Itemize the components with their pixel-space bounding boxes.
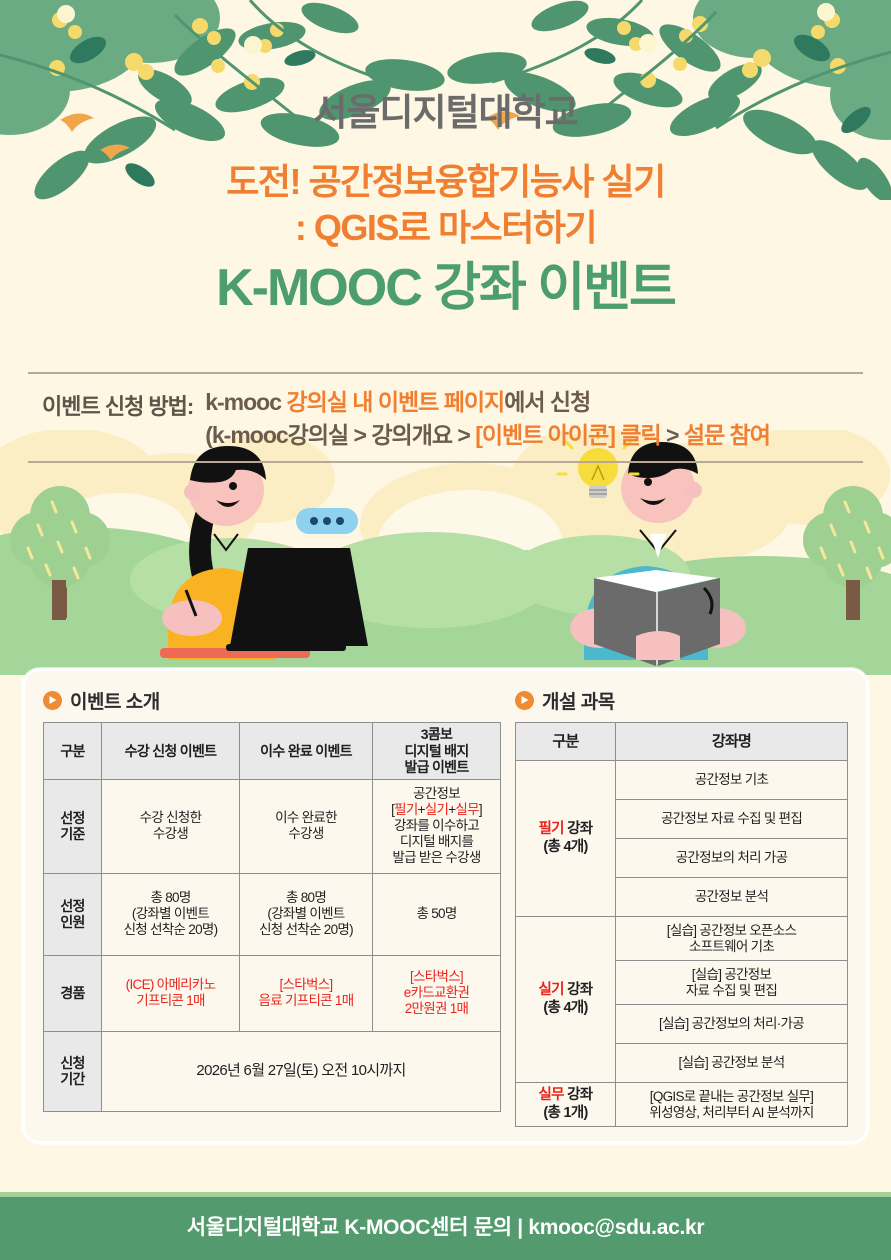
apply-method-band: 이벤트 신청 방법: k-mooc 강의실 내 이벤트 페이지에서 신청 (k-… [28,372,863,463]
cell-count-badge: 총 50명 [373,873,501,955]
event-subtitle-line1: 도전! 공간정보융합기능사 실기 [0,159,891,205]
footer-contact-text: 서울디지털대학교 K-MOOC센터 문의 | kmooc@sdu.ac.kr [187,1211,705,1241]
badge-header-line1: 3콤보 [375,726,498,743]
col-header-course-name: 강좌명 [616,723,848,761]
cell-period-value: 2026년 6월 27일(토) 오전 10시까지 [102,1031,501,1111]
course-cell: 공간정보 기초 [616,761,848,800]
table-row-count: 선정 인원 총 80명 (강좌별 이벤트 신청 선착순 20명) 총 80명 (… [44,873,501,955]
badge-header-line3: 발급 이벤트 [375,759,498,776]
group-label-field: 실무 강좌 (총 1개) [516,1083,616,1127]
course-cell: 공간정보의 처리 가공 [616,839,848,878]
table-header-row: 구분 강좌명 [516,723,848,761]
poster-root: 서울디지털대학교 도전! 공간정보융합기능사 실기 : QGIS로 마스터하기 … [0,0,891,1260]
apply-line2-part1: (k-mooc강의실 > 강의개요 > [205,422,475,448]
col-header-gubun: 구분 [44,723,102,780]
course-list-title: 개설 과목 [542,687,615,714]
table-row-prize: 경품 (ICE) 아메리카노 기프티콘 1매 [스타벅스] 음료 기프티콘 1매… [44,955,501,1031]
col-header-gubun: 구분 [516,723,616,761]
row-label-period: 신청 기간 [44,1031,102,1111]
group-label-practical: 실기 강좌 (총 4개) [516,917,616,1083]
event-subtitle-line2: : QGIS로 마스터하기 [0,205,891,251]
cell-prize-complete: [스타벅스] 음료 기프티콘 1매 [240,955,373,1031]
badge-header-line2: 디지털 배지 [375,743,498,760]
cell-criteria-badge: 공간정보 [필기+실기+실무] 강좌를 이수하고 디지털 배지를 발급 받은 수… [373,779,501,873]
course-cell: [QGIS로 끝내는 공간정보 실무] 위성영상, 처리부터 AI 분석까지 [616,1083,848,1127]
table-row-period: 신청 기간 2026년 6월 27일(토) 오전 10시까지 [44,1031,501,1111]
divider-bottom [28,461,863,463]
info-card: 이벤트 소개 구분 수강 신청 이벤트 이수 완료 이벤트 3콤보 디지털 배지… [22,668,869,1144]
row-label-prize: 경품 [44,955,102,1031]
apply-line1-part2: 에서 신청 [504,389,590,415]
course-cell: [실습] 공간정보 오픈소스 소프트웨어 기초 [616,917,848,961]
group-label-line1: 필기 강좌 [518,821,613,838]
cell-prize-apply: (ICE) 아메리카노 기프티콘 1매 [102,955,240,1031]
cell-criteria-complete: 이수 완료한 수강생 [240,779,373,873]
main-title: K-MOOC 강좌 이벤트 [0,259,891,317]
cell-count-apply: 총 80명 (강좌별 이벤트 신청 선착순 20명) [102,873,240,955]
group-label-count: (총 1개) [518,1105,613,1122]
cell-count-complete: 총 80명 (강좌별 이벤트 신청 선착순 20명) [240,873,373,955]
group-label-line1: 실무 강좌 [518,1087,613,1104]
table-header-row: 구분 수강 신청 이벤트 이수 완료 이벤트 3콤보 디지털 배지 발급 이벤트 [44,723,501,780]
cell-criteria-apply: 수강 신청한 수강생 [102,779,240,873]
course-cell: 공간정보 자료 수집 및 편집 [616,800,848,839]
row-label-criteria: 선정 기준 [44,779,102,873]
apply-line1-highlight: 강의실 내 이벤트 페이지 [286,389,504,415]
course-list-header: 개설 과목 [515,687,848,713]
header-zone: 서울디지털대학교 도전! 공간정보융합기능사 실기 : QGIS로 마스터하기 … [0,0,891,317]
event-intro-table: 구분 수강 신청 이벤트 이수 완료 이벤트 3콤보 디지털 배지 발급 이벤트 [43,722,501,1112]
course-cell: [실습] 공간정보 분석 [616,1044,848,1083]
group-label-line1: 실기 강좌 [518,982,613,999]
table-row: 실기 강좌 (총 4개) [실습] 공간정보 오픈소스 소프트웨어 기초 [516,917,848,961]
course-table: 구분 강좌명 필기 강좌 (총 4개) 공간정보 기초 공간정보 자료 수 [515,722,848,1127]
footer-accent-line [0,1192,891,1197]
group-label-count: (총 4개) [518,839,613,856]
col-header-badge-event: 3콤보 디지털 배지 발급 이벤트 [373,723,501,780]
scenery-illustration [0,430,891,675]
group-label-count: (총 4개) [518,1000,613,1017]
apply-line2-highlight2: 설문 참여 [684,422,770,448]
event-subtitle: 도전! 공간정보융합기능사 실기 : QGIS로 마스터하기 [0,159,891,251]
play-triangle-icon [515,691,534,710]
play-triangle-icon [43,691,62,710]
table-row: 실무 강좌 (총 1개) [QGIS로 끝내는 공간정보 실무] 위성영상, 처… [516,1083,848,1127]
university-name: 서울디지털대학교 [0,92,891,135]
course-cell: [실습] 공간정보의 처리·가공 [616,1005,848,1044]
course-cell: [실습] 공간정보 자료 수집 및 편집 [616,961,848,1005]
table-row: 필기 강좌 (총 4개) 공간정보 기초 [516,761,848,800]
apply-line1-part1: k-mooc [205,389,286,415]
cell-prize-badge: [스타벅스] e카드교환권 2만원권 1매 [373,955,501,1031]
event-intro-column: 이벤트 소개 구분 수강 신청 이벤트 이수 완료 이벤트 3콤보 디지털 배지… [43,687,501,1125]
course-list-column: 개설 과목 구분 강좌명 필기 강좌 (총 4개) [515,687,848,1125]
group-label-written: 필기 강좌 (총 4개) [516,761,616,917]
row-label-count: 선정 인원 [44,873,102,955]
course-cell: 공간정보 분석 [616,878,848,917]
apply-method-lines: k-mooc 강의실 내 이벤트 페이지에서 신청 (k-mooc강의실 > 강… [205,386,770,451]
apply-line2-part2: > [661,422,684,448]
apply-method-label: 이벤트 신청 방법: [42,386,193,421]
col-header-apply-event: 수강 신청 이벤트 [102,723,240,780]
event-intro-header: 이벤트 소개 [43,687,501,713]
event-intro-title: 이벤트 소개 [70,687,160,714]
apply-method-line2: (k-mooc강의실 > 강의개요 > [이벤트 아이콘] 클릭 > 설문 참여 [205,419,770,452]
badge-combo-line: [필기+실기+실무] [375,802,498,818]
apply-line2-highlight1: [이벤트 아이콘] 클릭 [475,422,660,448]
table-row-criteria: 선정 기준 수강 신청한 수강생 이수 완료한 수강생 공간정보 [44,779,501,873]
footer-bar: 서울디지털대학교 K-MOOC센터 문의 | kmooc@sdu.ac.kr [0,1192,891,1260]
apply-method-line1: k-mooc 강의실 내 이벤트 페이지에서 신청 [205,386,770,419]
character-girl-with-laptop [160,446,368,660]
col-header-complete-event: 이수 완료 이벤트 [240,723,373,780]
